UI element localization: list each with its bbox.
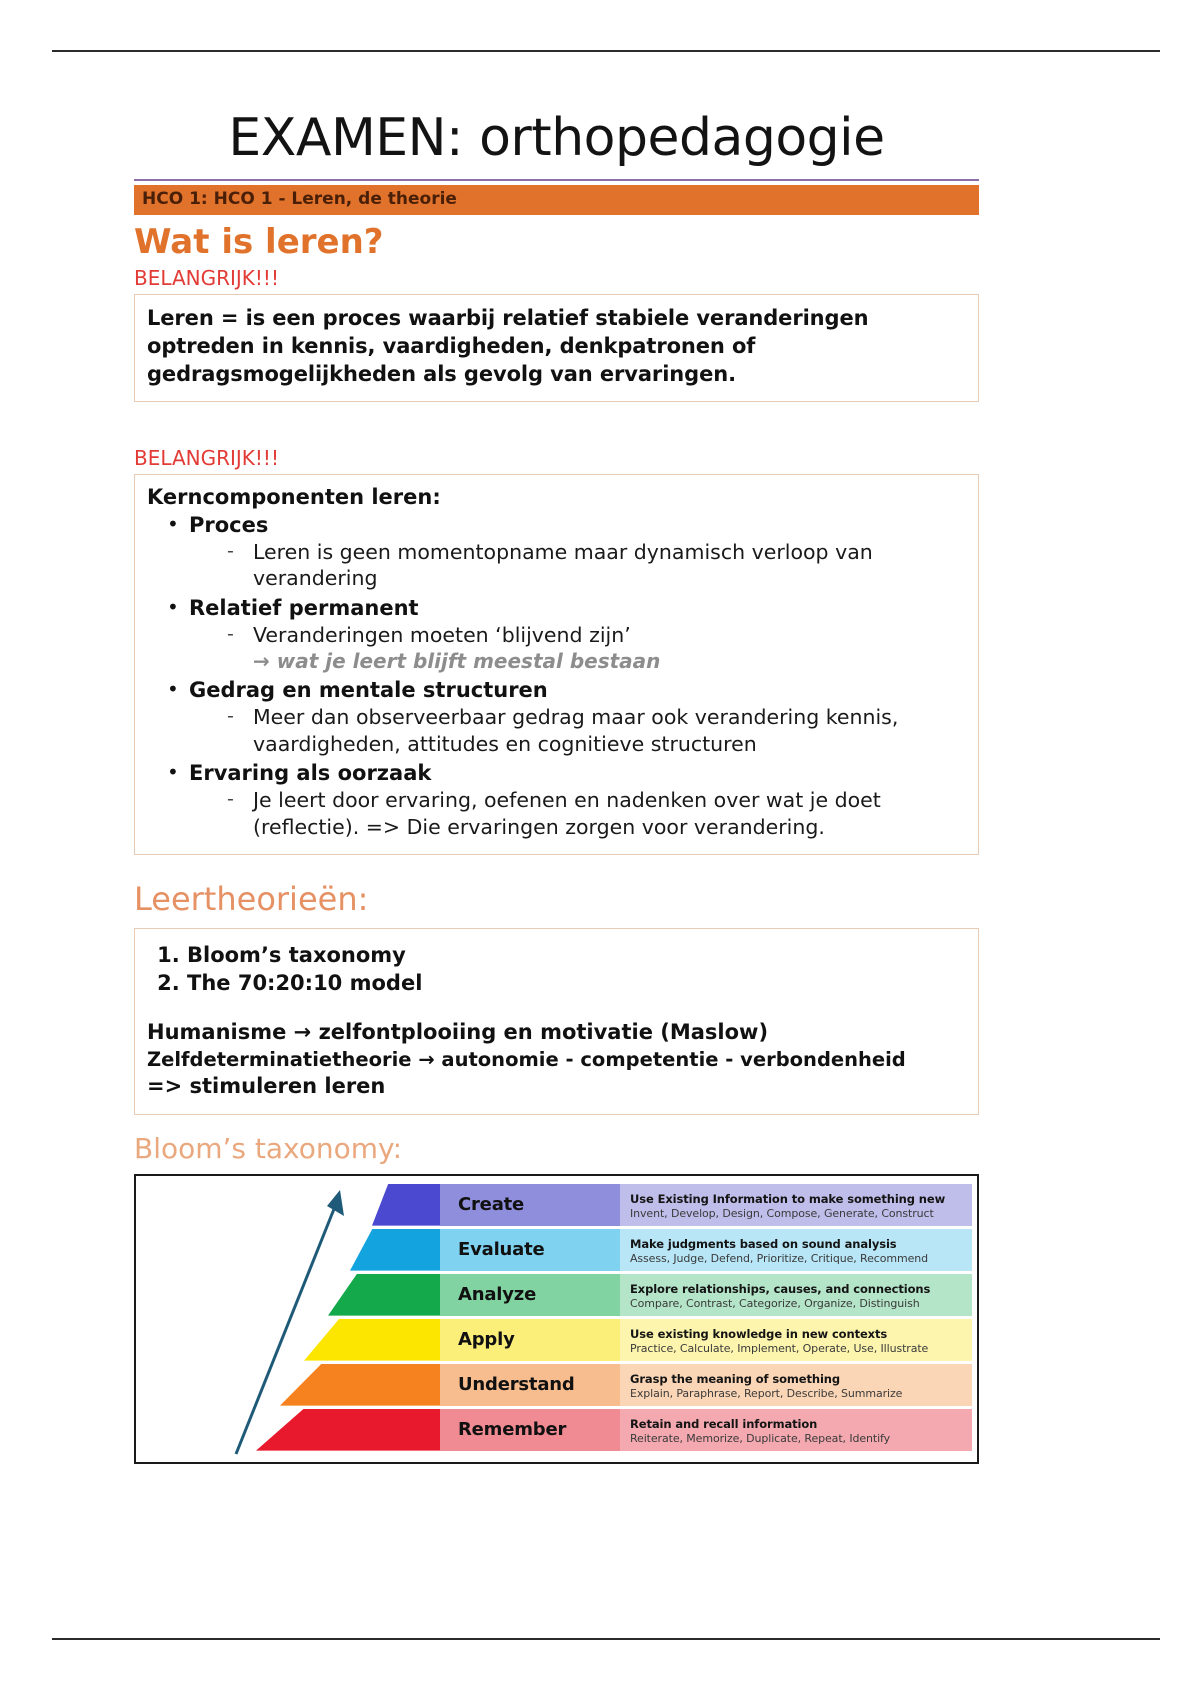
- blooms-pyramid-diagram: Create Use Existing Information to make …: [136, 1176, 977, 1462]
- dash-glyph: -: [227, 623, 234, 645]
- list-item: - Veranderingen moeten ‘blijvend zijn’ →…: [253, 622, 966, 674]
- row-face: [304, 1319, 440, 1361]
- important-label-2: BELANGRIJK!!!: [134, 446, 979, 470]
- pyramid-row-evaluate: Evaluate Make judgments based on sound a…: [350, 1229, 972, 1271]
- row-face: [256, 1409, 440, 1451]
- heading-blooms-taxonomy: Bloom’s taxonomy:: [134, 1133, 979, 1165]
- pyramid-row-analyze: Analyze Explore relationships, causes, a…: [328, 1274, 972, 1316]
- pyramid-level-desc: Use Existing Information to make somethi…: [620, 1184, 972, 1226]
- theories-extra: Humanisme → zelfontplooiing en motivatie…: [147, 1019, 966, 1100]
- list-item: Bloom’s taxonomy: [187, 941, 966, 969]
- definition-text: Leren = is een proces waarbij relatief s…: [147, 305, 966, 389]
- row-face: [328, 1274, 440, 1316]
- theory-extra-line: Zelfdeterminatietheorie → autonomie - co…: [147, 1047, 966, 1073]
- pyramid-level-description: Use Existing Information to make somethi…: [630, 1192, 972, 1206]
- core-components-box: Kerncomponenten leren: • Proces - Leren …: [134, 474, 979, 855]
- pyramid-level-verbs: Compare, Contrast, Categorize, Organize,…: [630, 1297, 972, 1311]
- pyramid-level-verbs: Assess, Judge, Defend, Prioritize, Criti…: [630, 1252, 972, 1266]
- list-item: - Je leert door ervaring, oefenen en nad…: [253, 787, 966, 839]
- pyramid-level-desc: Explore relationships, causes, and conne…: [620, 1274, 972, 1316]
- pyramid-level-label: Remember: [440, 1409, 620, 1451]
- theories-list: Bloom’s taxonomy The 70:20:10 model: [147, 941, 966, 998]
- dash-glyph: -: [227, 788, 234, 810]
- pyramid-level-desc: Grasp the meaning of something Explain, …: [620, 1364, 972, 1406]
- theory-extra-line: => stimuleren leren: [147, 1073, 966, 1101]
- row-face: [372, 1184, 440, 1226]
- row-face: [350, 1229, 440, 1271]
- list-item: • Proces - Leren is geen momentopname ma…: [189, 511, 966, 592]
- list-item: - Leren is geen momentopname maar dynami…: [253, 539, 966, 591]
- section-chip: HCO 1: HCO 1 - Leren, de theorie: [134, 185, 979, 215]
- pyramid-level-description: Retain and recall information: [630, 1417, 972, 1431]
- core-item-label: Gedrag en mentale structuren: [189, 678, 548, 702]
- pyramid-level-verbs: Reiterate, Memorize, Duplicate, Repeat, …: [630, 1432, 972, 1446]
- heading-leertheorieen: Leertheorieën:: [134, 881, 979, 918]
- bullet-glyph: •: [167, 759, 179, 786]
- core-item-label: Proces: [189, 513, 268, 537]
- pyramid-level-verbs: Explain, Paraphrase, Report, Describe, S…: [630, 1387, 972, 1401]
- blooms-taxonomy-figure: Create Use Existing Information to make …: [134, 1174, 979, 1464]
- pyramid-level-description: Make judgments based on sound analysis: [630, 1237, 972, 1251]
- list-item: The 70:20:10 model: [187, 969, 966, 997]
- pyramid-level-label: Create: [440, 1184, 620, 1226]
- core-item-sublist: - Je leert door ervaring, oefenen en nad…: [189, 787, 966, 839]
- pyramid-row-understand: Understand Grasp the meaning of somethin…: [280, 1364, 972, 1406]
- list-item: • Gedrag en mentale structuren - Meer da…: [189, 676, 966, 757]
- document-content: EXAMEN: orthopedagogie HCO 1: HCO 1 - Le…: [134, 110, 979, 1464]
- core-components-list: • Proces - Leren is geen momentopname ma…: [147, 511, 966, 840]
- pyramid-level-label: Analyze: [440, 1274, 620, 1316]
- core-subitem-text: Je leert door ervaring, oefenen en naden…: [253, 788, 881, 838]
- pyramid-row-remember: Remember Retain and recall information R…: [256, 1409, 972, 1451]
- bullet-glyph: •: [167, 511, 179, 538]
- pyramid-level-verbs: Invent, Develop, Design, Compose, Genera…: [630, 1207, 972, 1221]
- dash-glyph: -: [227, 540, 234, 562]
- core-subitem-text: Leren is geen momentopname maar dynamisc…: [253, 540, 873, 590]
- dash-glyph: -: [227, 705, 234, 727]
- pyramid-level-description: Grasp the meaning of something: [630, 1372, 972, 1386]
- pyramid-level-verbs: Practice, Calculate, Implement, Operate,…: [630, 1342, 972, 1356]
- core-components-title: Kerncomponenten leren:: [147, 485, 966, 509]
- pyramid-level-label: Evaluate: [440, 1229, 620, 1271]
- heading-wat-is-leren: Wat is leren?: [134, 223, 979, 262]
- bullet-glyph: •: [167, 676, 179, 703]
- pyramid-row-create: Create Use Existing Information to make …: [372, 1184, 972, 1226]
- bullet-glyph: •: [167, 594, 179, 621]
- definition-box: Leren = is een proces waarbij relatief s…: [134, 294, 979, 402]
- pyramid-level-description: Use existing knowledge in new contexts: [630, 1327, 972, 1341]
- core-subitem-text: Meer dan observeerbaar gedrag maar ook v…: [253, 705, 898, 755]
- pyramid-level-label: Understand: [440, 1364, 620, 1406]
- title-divider: [134, 179, 979, 181]
- list-item: • Ervaring als oorzaak - Je leert door e…: [189, 759, 966, 840]
- core-item-sublist: - Meer dan observeerbaar gedrag maar ook…: [189, 704, 966, 756]
- theories-box: Bloom’s taxonomy The 70:20:10 model Huma…: [134, 928, 979, 1116]
- core-item-label: Ervaring als oorzaak: [189, 761, 431, 785]
- theory-extra-line: Humanisme → zelfontplooiing en motivatie…: [147, 1019, 966, 1047]
- core-subitem-note: → wat je leert blijft meestal bestaan: [253, 648, 966, 674]
- pyramid-level-desc: Use existing knowledge in new contexts P…: [620, 1319, 972, 1361]
- spacer: [134, 402, 979, 442]
- row-face: [280, 1364, 440, 1406]
- core-item-sublist: - Leren is geen momentopname maar dynami…: [189, 539, 966, 591]
- list-item: • Relatief permanent - Veranderingen moe…: [189, 594, 966, 675]
- important-label-1: BELANGRIJK!!!: [134, 266, 979, 290]
- core-subitem-text: Veranderingen moeten ‘blijvend zijn’: [253, 623, 631, 647]
- page-title: EXAMEN: orthopedagogie: [134, 110, 979, 167]
- pyramid-level-desc: Make judgments based on sound analysis A…: [620, 1229, 972, 1271]
- pyramid-level-desc: Retain and recall information Reiterate,…: [620, 1409, 972, 1451]
- list-item: - Meer dan observeerbaar gedrag maar ook…: [253, 704, 966, 756]
- page-rule-top: [52, 50, 1160, 52]
- pyramid-level-label: Apply: [440, 1319, 620, 1361]
- pyramid-level-description: Explore relationships, causes, and conne…: [630, 1282, 972, 1296]
- pyramid-row-apply: Apply Use existing knowledge in new cont…: [304, 1319, 972, 1361]
- page-rule-bottom: [52, 1638, 1160, 1640]
- core-item-sublist: - Veranderingen moeten ‘blijvend zijn’ →…: [189, 622, 966, 674]
- pyramid-rows: Create Use Existing Information to make …: [240, 1184, 972, 1458]
- core-item-label: Relatief permanent: [189, 596, 419, 620]
- document-page: EXAMEN: orthopedagogie HCO 1: HCO 1 - Le…: [0, 0, 1200, 1700]
